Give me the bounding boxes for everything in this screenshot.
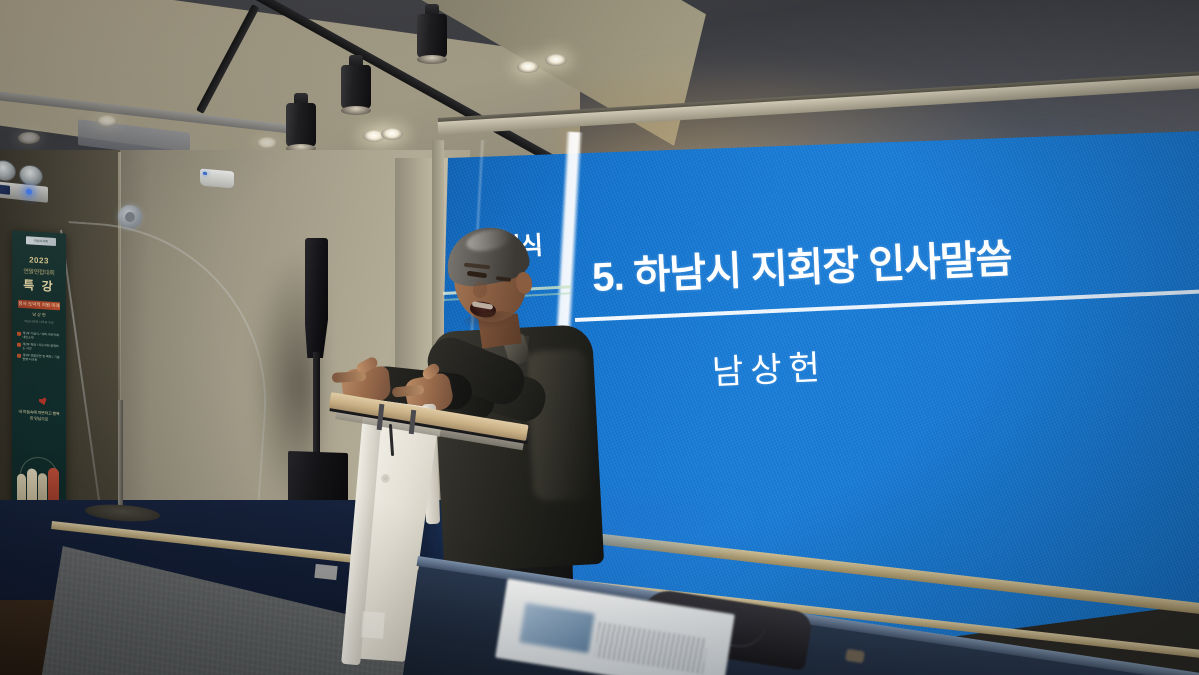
recessed-downlight-icon	[517, 61, 539, 73]
banner-accent-band: 정서·도덕적 지원 미래	[18, 300, 60, 311]
recessed-downlight-icon	[18, 132, 40, 144]
bullet-icon	[17, 342, 21, 346]
banner-program-text: 제2부 특강 / 지도자와 함께하는 시간	[23, 342, 62, 352]
emergency-lamp-icon	[0, 159, 16, 183]
pa-speaker-pole	[313, 352, 320, 462]
banner-program-item: 제3부 연합공연 및 폐회 / 기념촬영·다과회	[17, 353, 61, 364]
track-spotlight-icon	[417, 4, 447, 64]
bullet-icon	[17, 353, 21, 357]
ceiling-sensor-device-icon	[200, 169, 234, 189]
banner-program-item: 제2부 특강 / 지도자와 함께하는 시간	[17, 342, 61, 353]
banner-logo: 하남시지회	[26, 236, 56, 246]
recessed-downlight-icon	[381, 128, 403, 140]
photo-scene: 하남시지회 2023 연말연합대회 특 강 정서·도덕적 지원 미래 남 상 헌…	[0, 0, 1199, 675]
person-right-pointing-finger	[332, 371, 366, 383]
pa-line-array-speaker	[305, 238, 328, 358]
person-jacket-highlight	[526, 349, 594, 502]
banner-program-item: 제1부 기념식 / 개회·국민의례·내빈소개	[17, 331, 61, 342]
banner-program-list: 제1부 기념식 / 개회·국민의례·내빈소개 제2부 특강 / 지도자와 함께하…	[17, 331, 61, 364]
banner-organizer: 하남시지회 사무국 주관	[12, 318, 66, 325]
banner-main-title: 특 강	[12, 275, 66, 295]
event-banner: 하남시지회 2023 연말연합대회 특 강 정서·도덕적 지원 미래 남 상 헌…	[12, 230, 66, 518]
banner-program-text: 제3부 연합공연 및 폐회 / 기념촬영·다과회	[23, 353, 62, 363]
slide-presenter-name: 남상헌	[711, 340, 828, 394]
banner-year: 2023	[12, 254, 66, 266]
recessed-downlight-icon	[545, 54, 567, 66]
emergency-light-unit	[2, 160, 60, 214]
track-spotlight-icon	[341, 55, 371, 115]
status-led-icon	[26, 188, 32, 195]
heart-icon	[38, 396, 48, 406]
recessed-downlight-icon	[96, 115, 118, 127]
lectern-label-tag	[361, 611, 385, 638]
emergency-light-label	[0, 184, 10, 195]
mic-stand-pole	[118, 400, 123, 510]
bullet-icon	[17, 331, 21, 335]
banner-script-text: 내 마음속에 따뜻하고 행복한 만남으로	[18, 409, 60, 424]
small-object-on-table	[845, 649, 865, 664]
lectern-emblem-icon	[381, 474, 390, 483]
banner-program-text: 제1부 기념식 / 개회·국민의례·내빈소개	[23, 331, 62, 341]
recessed-downlight-icon	[256, 137, 278, 149]
track-spotlight-icon	[286, 93, 316, 153]
